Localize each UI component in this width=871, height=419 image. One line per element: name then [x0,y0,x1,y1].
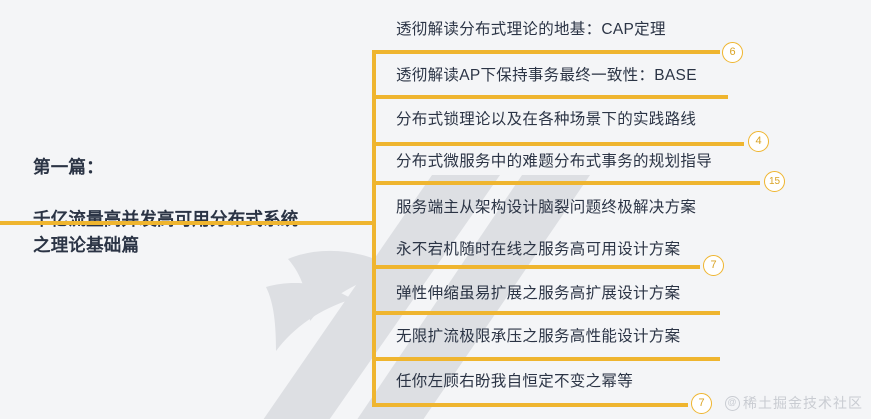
root-title: 第一篇： 千亿流量高并发高可用分布式系统 之理论基础篇 [33,128,363,284]
node-item-3[interactable]: 分布式锁理论以及在各种场景下的实践路线 [396,110,696,130]
count-badge-3[interactable]: 15 [764,171,785,192]
count-badge-5[interactable]: 7 [691,393,712,414]
node-item-7[interactable]: 弹性伸缩虽易扩展之服务高扩展设计方案 [396,284,680,304]
node-item-8[interactable]: 无限扩流极限承压之服务高性能设计方案 [396,327,680,347]
branch-connector-9 [372,403,688,407]
site-watermark-label: 稀土掘金技术社区 [743,393,863,413]
branch-connector-8 [372,357,720,361]
node-item-1[interactable]: 透彻解读分布式理论的地基：CAP定理 [396,20,666,40]
root-title-line-1: 第一篇： [33,154,363,180]
node-item-4[interactable]: 分布式微服务中的难题分布式事务的规划指导 [396,152,712,172]
trunk-connector [0,221,376,225]
node-item-9[interactable]: 任你左顾右盼我自恒定不变之幂等 [396,372,633,392]
root-title-line-2: 千亿流量高并发高可用分布式系统 之理论基础篇 [33,206,363,258]
count-badge-1[interactable]: 6 [722,42,743,63]
node-item-6[interactable]: 永不宕机随时在线之服务高可用设计方案 [396,240,680,260]
branch-connector-5 [372,223,376,227]
mindmap-canvas: 第一篇： 千亿流量高并发高可用分布式系统 之理论基础篇 透彻解读分布式理论的地基… [0,0,871,419]
branch-connector-2 [372,95,728,99]
spine-connector [372,50,376,407]
branch-connector-7 [372,311,720,315]
node-item-5[interactable]: 服务端主从架构设计脑裂问题终极解决方案 [396,198,696,218]
at-icon: @ [725,396,740,411]
branch-connector-6 [372,265,700,269]
branch-connector-4 [372,181,760,185]
branch-connector-1 [372,50,720,54]
count-badge-2[interactable]: 4 [748,131,769,152]
branch-connector-3 [372,142,744,146]
count-badge-4[interactable]: 7 [703,255,724,276]
node-item-2[interactable]: 透彻解读AP下保持事务最终一致性：BASE [396,66,697,86]
site-watermark: @ 稀土掘金技术社区 [725,393,863,413]
